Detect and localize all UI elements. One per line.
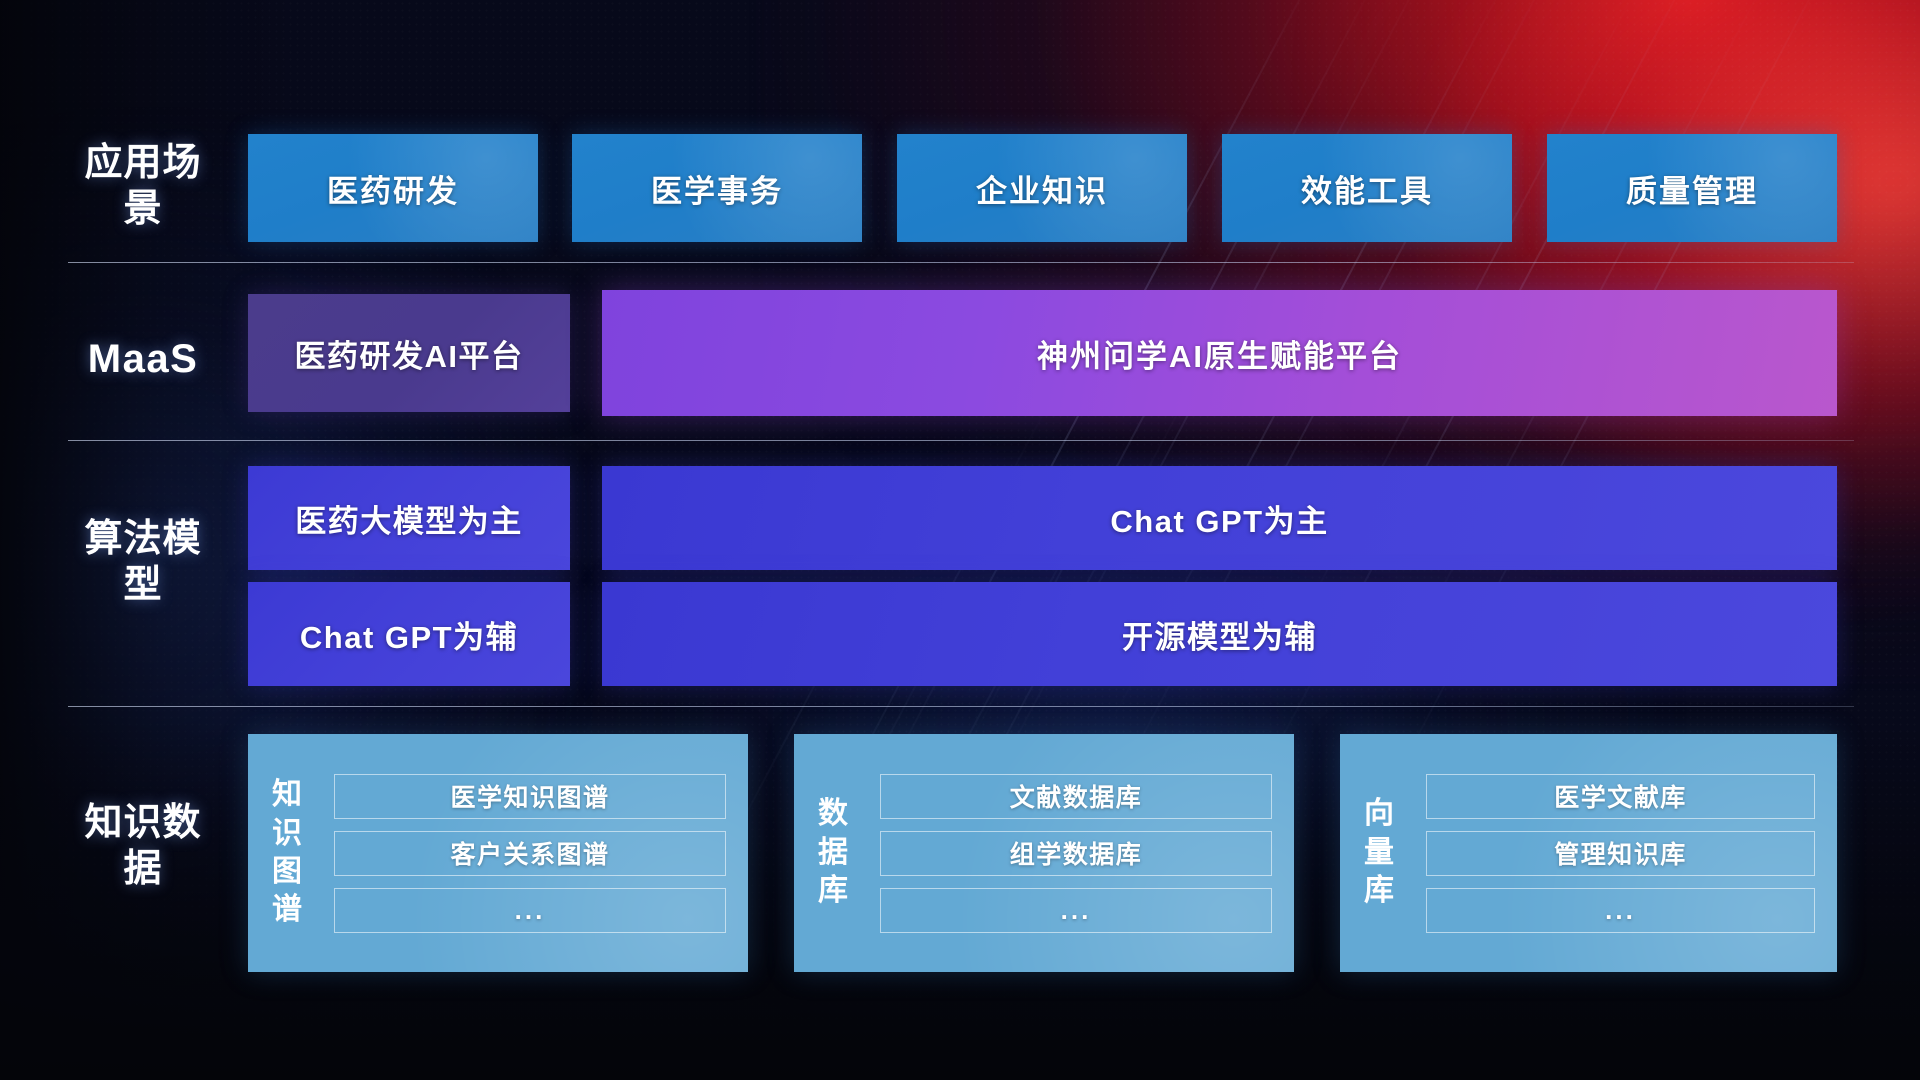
knowledge-item-more-1[interactable]: ... [334, 888, 726, 933]
knowledge-item-more-3[interactable]: ... [1426, 888, 1815, 933]
divider-2 [68, 440, 1854, 441]
algo-box-chatgpt-secondary[interactable]: Chat GPT为辅 [248, 582, 570, 686]
algo-box-opensource-secondary[interactable]: 开源模型为辅 [602, 582, 1837, 686]
row-label-knowledge-data: 知识数据 [68, 800, 218, 893]
algo-box-pharma-primary[interactable]: 医药大模型为主 [248, 466, 570, 570]
knowledge-panel-3-label: 向量库 [1340, 734, 1418, 972]
knowledge-item-medical-literature-store[interactable]: 医学文献库 [1426, 774, 1815, 819]
algo-box-opensource-secondary-label: 开源模型为辅 [1122, 612, 1317, 657]
divider-3 [68, 706, 1854, 707]
app-box-1-label: 医药研发 [327, 166, 459, 211]
knowledge-item-more-2[interactable]: ... [880, 888, 1272, 933]
knowledge-panel-database[interactable]: 数据库 文献数据库 组学数据库 ... [794, 734, 1294, 972]
knowledge-panel-1-label: 知识图谱 [248, 734, 326, 972]
knowledge-panel-3-items: 医学文献库 管理知识库 ... [1418, 734, 1837, 972]
app-box-2[interactable]: 医学事务 [572, 134, 862, 242]
algo-box-chatgpt-secondary-label: Chat GPT为辅 [300, 612, 518, 657]
algo-box-chatgpt-primary[interactable]: Chat GPT为主 [602, 466, 1837, 570]
row-label-algorithm-models: 算法模型 [68, 516, 218, 609]
algo-box-chatgpt-primary-label: Chat GPT为主 [1110, 496, 1328, 541]
knowledge-item-management-knowledge-store[interactable]: 管理知识库 [1426, 831, 1815, 876]
knowledge-panel-knowledge-graph[interactable]: 知识图谱 医学知识图谱 客户关系图谱 ... [248, 734, 748, 972]
app-box-3-label: 企业知识 [976, 166, 1108, 211]
knowledge-item-omics-db[interactable]: 组学数据库 [880, 831, 1272, 876]
architecture-diagram: 应用场景 医药研发 医学事务 企业知识 效能工具 质量管理 MaaS 医药研发A… [0, 0, 1920, 1080]
app-box-3[interactable]: 企业知识 [897, 134, 1187, 242]
knowledge-panel-2-label: 数据库 [794, 734, 872, 972]
knowledge-panel-2-items: 文献数据库 组学数据库 ... [872, 734, 1294, 972]
maas-box-shenzhou-platform-label: 神州问学AI原生赋能平台 [1037, 331, 1402, 376]
knowledge-item-medical-graph[interactable]: 医学知识图谱 [334, 774, 726, 819]
row-label-maas: MaaS [58, 335, 228, 384]
knowledge-item-literature-db[interactable]: 文献数据库 [880, 774, 1272, 819]
app-box-4-label: 效能工具 [1301, 166, 1433, 211]
knowledge-item-customer-graph[interactable]: 客户关系图谱 [334, 831, 726, 876]
divider-1 [68, 262, 1854, 263]
knowledge-panel-1-items: 医学知识图谱 客户关系图谱 ... [326, 734, 748, 972]
app-box-5[interactable]: 质量管理 [1547, 134, 1837, 242]
maas-box-shenzhou-platform[interactable]: 神州问学AI原生赋能平台 [602, 290, 1837, 416]
app-box-5-label: 质量管理 [1626, 166, 1758, 211]
algo-box-pharma-primary-label: 医药大模型为主 [295, 496, 523, 541]
app-box-4[interactable]: 效能工具 [1222, 134, 1512, 242]
row-label-application-scenarios: 应用场景 [68, 140, 218, 233]
app-box-1[interactable]: 医药研发 [248, 134, 538, 242]
app-box-2-label: 医学事务 [651, 166, 783, 211]
maas-box-pharma-ai-platform-label: 医药研发AI平台 [295, 331, 524, 376]
maas-box-pharma-ai-platform[interactable]: 医药研发AI平台 [248, 294, 570, 412]
knowledge-panel-vector-store[interactable]: 向量库 医学文献库 管理知识库 ... [1340, 734, 1837, 972]
